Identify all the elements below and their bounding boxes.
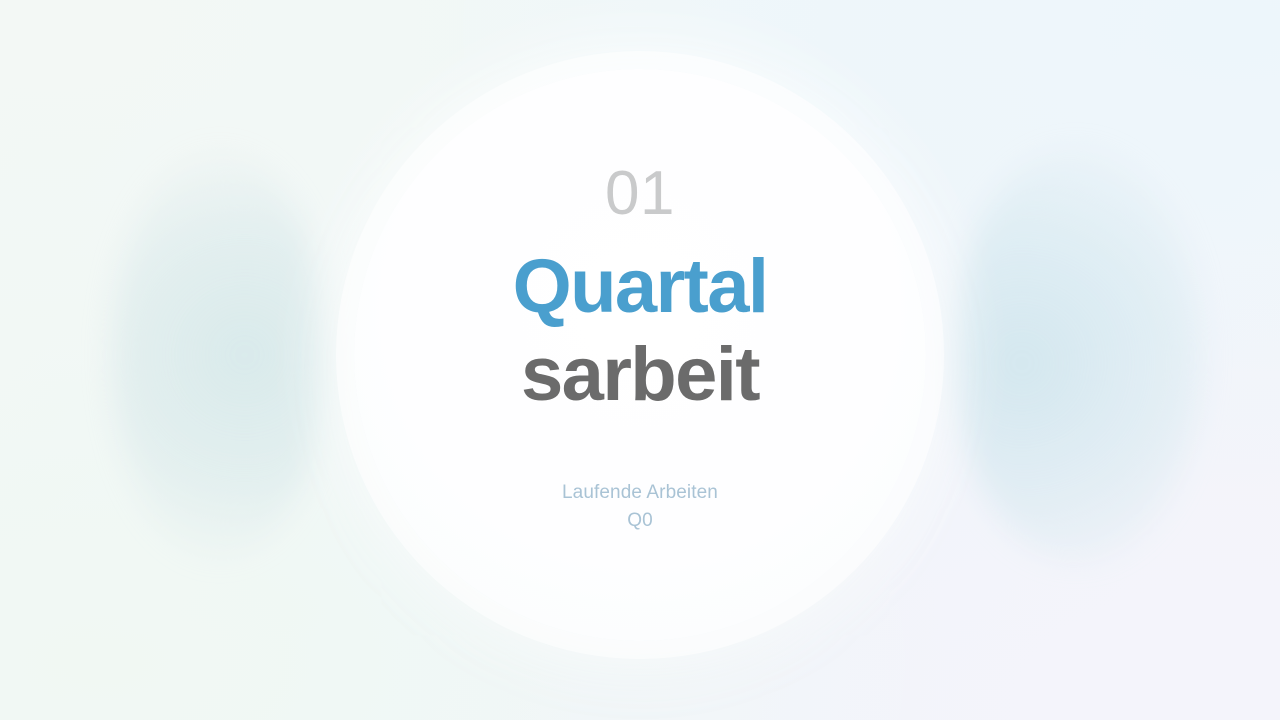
decorative-circle-left (112, 152, 326, 558)
hero-circle-content: 01 Quartal sarbeit Laufende Arbeiten Q0 (354, 69, 926, 536)
subtitle-line-quarter: Q0 (562, 507, 718, 535)
subtitle-line-description: Laufende Arbeiten (562, 479, 718, 507)
page-title: Quartal sarbeit (513, 243, 768, 419)
title-slide: 01 Quartal sarbeit Laufende Arbeiten Q0 (0, 0, 1280, 720)
decorative-circle-right (952, 150, 1202, 560)
subtitle: Laufende Arbeiten Q0 (562, 479, 718, 535)
title-line-secondary: sarbeit (513, 331, 768, 419)
hero-circle: 01 Quartal sarbeit Laufende Arbeiten Q0 (354, 69, 926, 641)
step-number: 01 (605, 163, 675, 225)
title-line-primary: Quartal (513, 243, 768, 331)
